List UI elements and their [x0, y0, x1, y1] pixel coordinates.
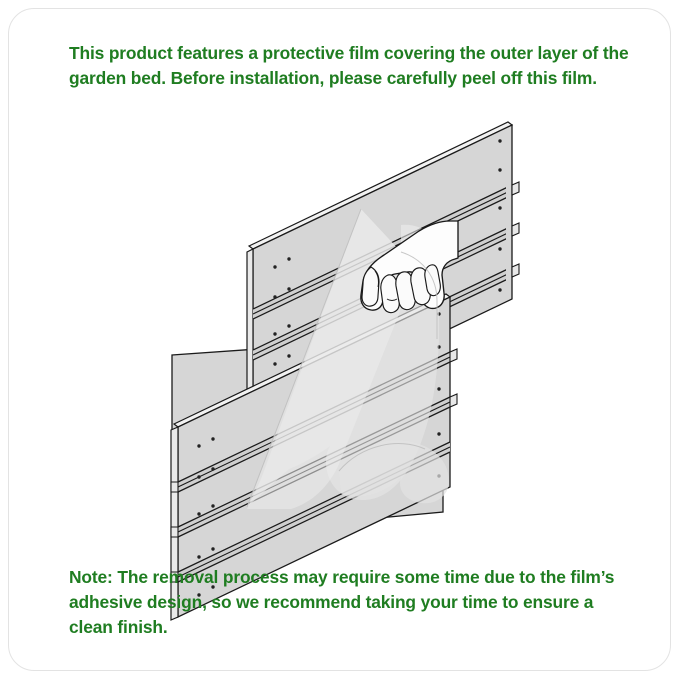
corrugation-rib: [178, 397, 450, 537]
rivets: [437, 312, 440, 477]
lower-panel: [172, 224, 449, 539]
hand-finger-ring: [411, 268, 431, 305]
film-sheet-left: [247, 209, 406, 509]
bottom-note-text: Note: The removal process may require so…: [69, 565, 629, 640]
protective-film: [247, 209, 449, 509]
hand-finger-little: [425, 265, 441, 296]
upper-panel-face: [253, 125, 512, 423]
hand-finger-middle: [396, 272, 416, 310]
corrugation-rib: [253, 226, 512, 360]
hand-thumb: [362, 267, 379, 306]
film-bottom-curl: [339, 440, 449, 503]
lower-panel-top-edge: [174, 294, 450, 427]
upper-panel-left-flange: [247, 249, 253, 426]
upper-panel-top-edge: [249, 122, 512, 249]
hand-creases: [375, 271, 397, 301]
rivets: [273, 257, 290, 402]
upper-panel: [247, 122, 519, 426]
corrugation-rib: [253, 267, 512, 401]
corrugation-rib: [178, 442, 450, 582]
hand-finger-index: [381, 275, 400, 313]
film-edge-lines: [247, 209, 437, 507]
upper-panel-corrugation: [253, 185, 512, 401]
film-drape-main: [247, 209, 439, 507]
instruction-card: This product features a protective film …: [8, 8, 671, 671]
rivets: [498, 139, 501, 291]
corrugation-rib: [178, 352, 450, 492]
upper-panel-right-edge-steps: [512, 182, 519, 277]
corrugation-rib: [253, 185, 512, 319]
lower-panel-right-steps: [450, 349, 457, 407]
film-top-flap: [401, 225, 439, 305]
lower-panel-face: [172, 336, 443, 537]
lower-panel-corrugation: [178, 352, 450, 582]
hand: [361, 221, 458, 313]
hand-silhouette: [361, 221, 458, 310]
top-instruction-text: This product features a protective film …: [69, 41, 629, 91]
